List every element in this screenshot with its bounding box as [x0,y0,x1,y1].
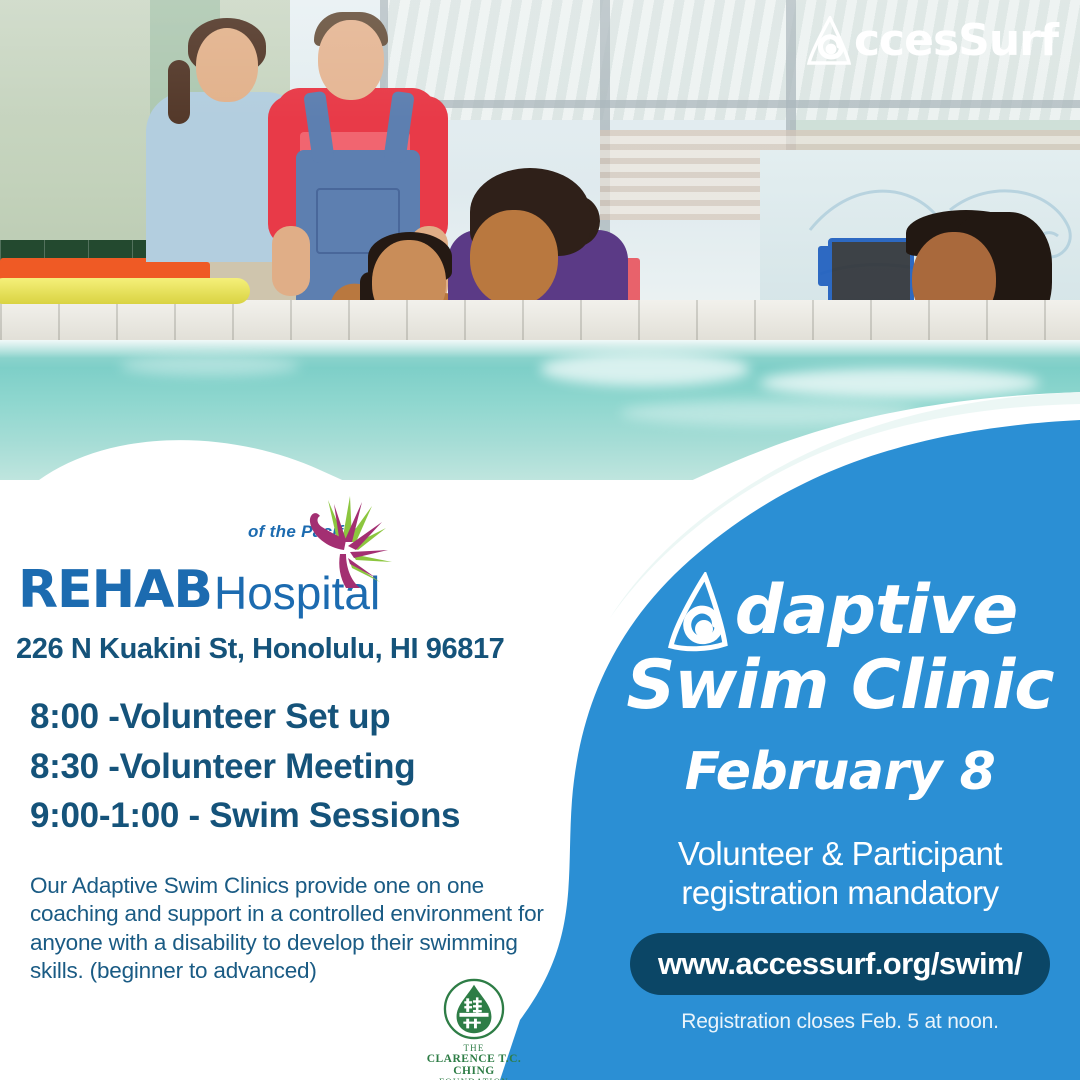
accessurf-brand-logo: ccesSurf [806,16,1058,66]
person-head [318,20,384,100]
accessurf-a-wave-icon [806,16,852,66]
program-description: Our Adaptive Swim Clinics provide one on… [30,872,555,985]
ching-line-the: THE [412,1043,536,1053]
person-head [196,28,258,102]
ching-foundation-leaf-icon [443,978,505,1040]
schedule-item: 8:30 -Volunteer Meeting [30,742,590,792]
registration-url-text: www.accessurf.org/swim/ [658,946,1022,982]
schedule-list: 8:00 -Volunteer Set up 8:30 -Volunteer M… [30,692,590,841]
person-head [470,210,558,306]
accessurf-a-wave-icon [663,572,739,654]
schedule-item: 9:00-1:00 - Swim Sessions [30,791,590,841]
event-title-line1: daptive [600,568,1080,654]
person-hair [168,60,190,124]
venue-address: 226 N Kuakini St, Honolulu, HI 96817 [16,633,504,666]
water-surface-line [0,340,1080,358]
registration-note: Volunteer & Participant registration man… [600,835,1080,913]
water-highlight [760,368,1040,398]
event-title-line2: Swim Clinic [600,652,1080,720]
title-line1-text: daptive [735,577,1018,645]
ching-foundation-logo: THE CLARENCE T.C. CHING FOUNDATION [412,978,536,1074]
water-highlight [120,356,300,376]
window-beam [380,100,1080,108]
right-content-panel: daptive Swim Clinic February 8 Volunteer… [600,540,1080,1080]
registration-deadline: Registration closes Feb. 5 at noon. [600,1010,1080,1034]
left-content-panel: REHAB Hospital of the Pacific [0,470,600,1080]
event-date: February 8 [600,746,1080,798]
pool-noodle-icon [0,278,250,304]
brand-name: ccesSurf [854,19,1058,63]
water-highlight [620,400,920,426]
registration-url-button[interactable]: www.accessurf.org/swim/ [630,933,1050,995]
ching-line-name: CLARENCE T.C. CHING [412,1053,536,1077]
rehab-wordmark: REHAB [18,564,212,616]
bird-of-paradise-flower-icon [288,488,396,588]
water-highlight [540,352,750,386]
poster-canvas: ccesSurf REHAB Hospital of the Pacific [0,0,1080,1080]
person-forearm [272,226,310,296]
schedule-item: 8:00 -Volunteer Set up [30,692,590,742]
hero-photo [0,0,1080,480]
wheelchair-icon [828,238,914,304]
